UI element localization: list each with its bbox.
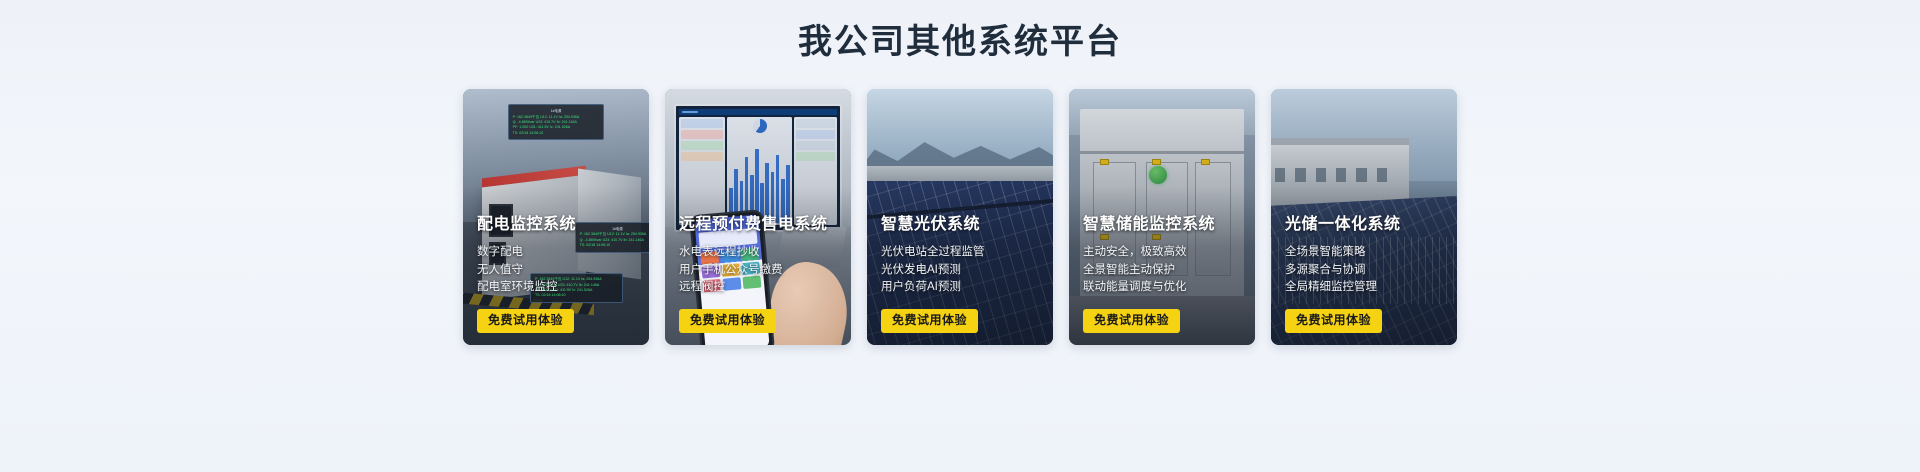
card-content: 智慧光伏系统 光伏电站全过程监管 光伏发电AI预测 用户负荷AI预测 免费试用体… xyxy=(881,210,1043,333)
card-feature: 无人值守 xyxy=(477,262,639,279)
card-content: 配电监控系统 数字配电 无人值守 配电室环境监控 免费试用体验 xyxy=(477,210,639,333)
card-feature: 用户负荷AI预测 xyxy=(881,279,1043,296)
card-feature: 水电表远程抄收 xyxy=(679,244,841,261)
card-feature: 全场景智能策略 xyxy=(1285,244,1447,261)
hud-row: TS: 02/18 14:06:10 xyxy=(513,131,600,136)
system-cards-row: 1#电源 P: 162.3849千瓦 U12: 11.1V Ia: 254.93… xyxy=(0,89,1920,345)
page-root: 我公司其他系统平台 1#电源 P: 162.3849千瓦 U12: 11.1V … xyxy=(0,0,1920,345)
card-title: 远程预付费售电系统 xyxy=(679,210,841,234)
system-card-power-distribution[interactable]: 1#电源 P: 162.3849千瓦 U12: 11.1V Ia: 254.93… xyxy=(463,89,649,345)
card-feature: 多源聚合与协调 xyxy=(1285,262,1447,279)
card-title: 智慧储能监控系统 xyxy=(1083,210,1245,234)
card-title: 智慧光伏系统 xyxy=(881,210,1043,234)
card-title: 配电监控系统 xyxy=(477,210,639,234)
card-feature: 配电室环境监控 xyxy=(477,279,639,296)
card-feature-list: 主动安全，极致高效 全景智能主动保护 联动能量调度与优化 xyxy=(1083,244,1245,296)
card-content: 光储一体化系统 全场景智能策略 多源聚合与协调 全局精细监控管理 免费试用体验 xyxy=(1285,210,1447,333)
free-trial-button[interactable]: 免费试用体验 xyxy=(1285,309,1382,333)
page-title: 我公司其他系统平台 xyxy=(0,0,1920,63)
card-feature: 光伏电站全过程监管 xyxy=(881,244,1043,261)
free-trial-button[interactable]: 免费试用体验 xyxy=(477,309,574,333)
card-feature-list: 全场景智能策略 多源聚合与协调 全局精细监控管理 xyxy=(1285,244,1447,296)
card-feature-list: 水电表远程抄收 用户手机公众号缴费 远程阀控 xyxy=(679,244,841,296)
card-feature: 用户手机公众号缴费 xyxy=(679,262,841,279)
card-content: 远程预付费售电系统 水电表远程抄收 用户手机公众号缴费 远程阀控 免费试用体验 xyxy=(679,210,841,333)
card-feature: 数字配电 xyxy=(477,244,639,261)
system-card-prepaid-electricity[interactable]: 远程预付费售电系统 水电表远程抄收 用户手机公众号缴费 远程阀控 免费试用体验 xyxy=(665,89,851,345)
card-feature: 联动能量调度与优化 xyxy=(1083,279,1245,296)
card-feature-list: 数字配电 无人值守 配电室环境监控 xyxy=(477,244,639,296)
card-feature: 主动安全，极致高效 xyxy=(1083,244,1245,261)
card-feature-list: 光伏电站全过程监管 光伏发电AI预测 用户负荷AI预测 xyxy=(881,244,1043,296)
hud-panel: 1#电源 P: 162.3849千瓦 U12: 11.1V Ia: 254.93… xyxy=(508,104,605,140)
card-feature: 全景智能主动保护 xyxy=(1083,262,1245,279)
card-content: 智慧储能监控系统 主动安全，极致高效 全景智能主动保护 联动能量调度与优化 免费… xyxy=(1083,210,1245,333)
card-feature: 全局精细监控管理 xyxy=(1285,279,1447,296)
free-trial-button[interactable]: 免费试用体验 xyxy=(881,309,978,333)
system-card-smart-pv[interactable]: 智慧光伏系统 光伏电站全过程监管 光伏发电AI预测 用户负荷AI预测 免费试用体… xyxy=(867,89,1053,345)
system-card-pv-storage-integrated[interactable]: 光储一体化系统 全场景智能策略 多源聚合与协调 全局精细监控管理 免费试用体验 xyxy=(1271,89,1457,345)
free-trial-button[interactable]: 免费试用体验 xyxy=(679,309,776,333)
hud-title: 1#电源 xyxy=(513,108,600,113)
card-title: 光储一体化系统 xyxy=(1285,210,1447,234)
card-feature: 远程阀控 xyxy=(679,279,841,296)
card-feature: 光伏发电AI预测 xyxy=(881,262,1043,279)
free-trial-button[interactable]: 免费试用体验 xyxy=(1083,309,1180,333)
system-card-energy-storage[interactable]: 智慧储能监控系统 主动安全，极致高效 全景智能主动保护 联动能量调度与优化 免费… xyxy=(1069,89,1255,345)
